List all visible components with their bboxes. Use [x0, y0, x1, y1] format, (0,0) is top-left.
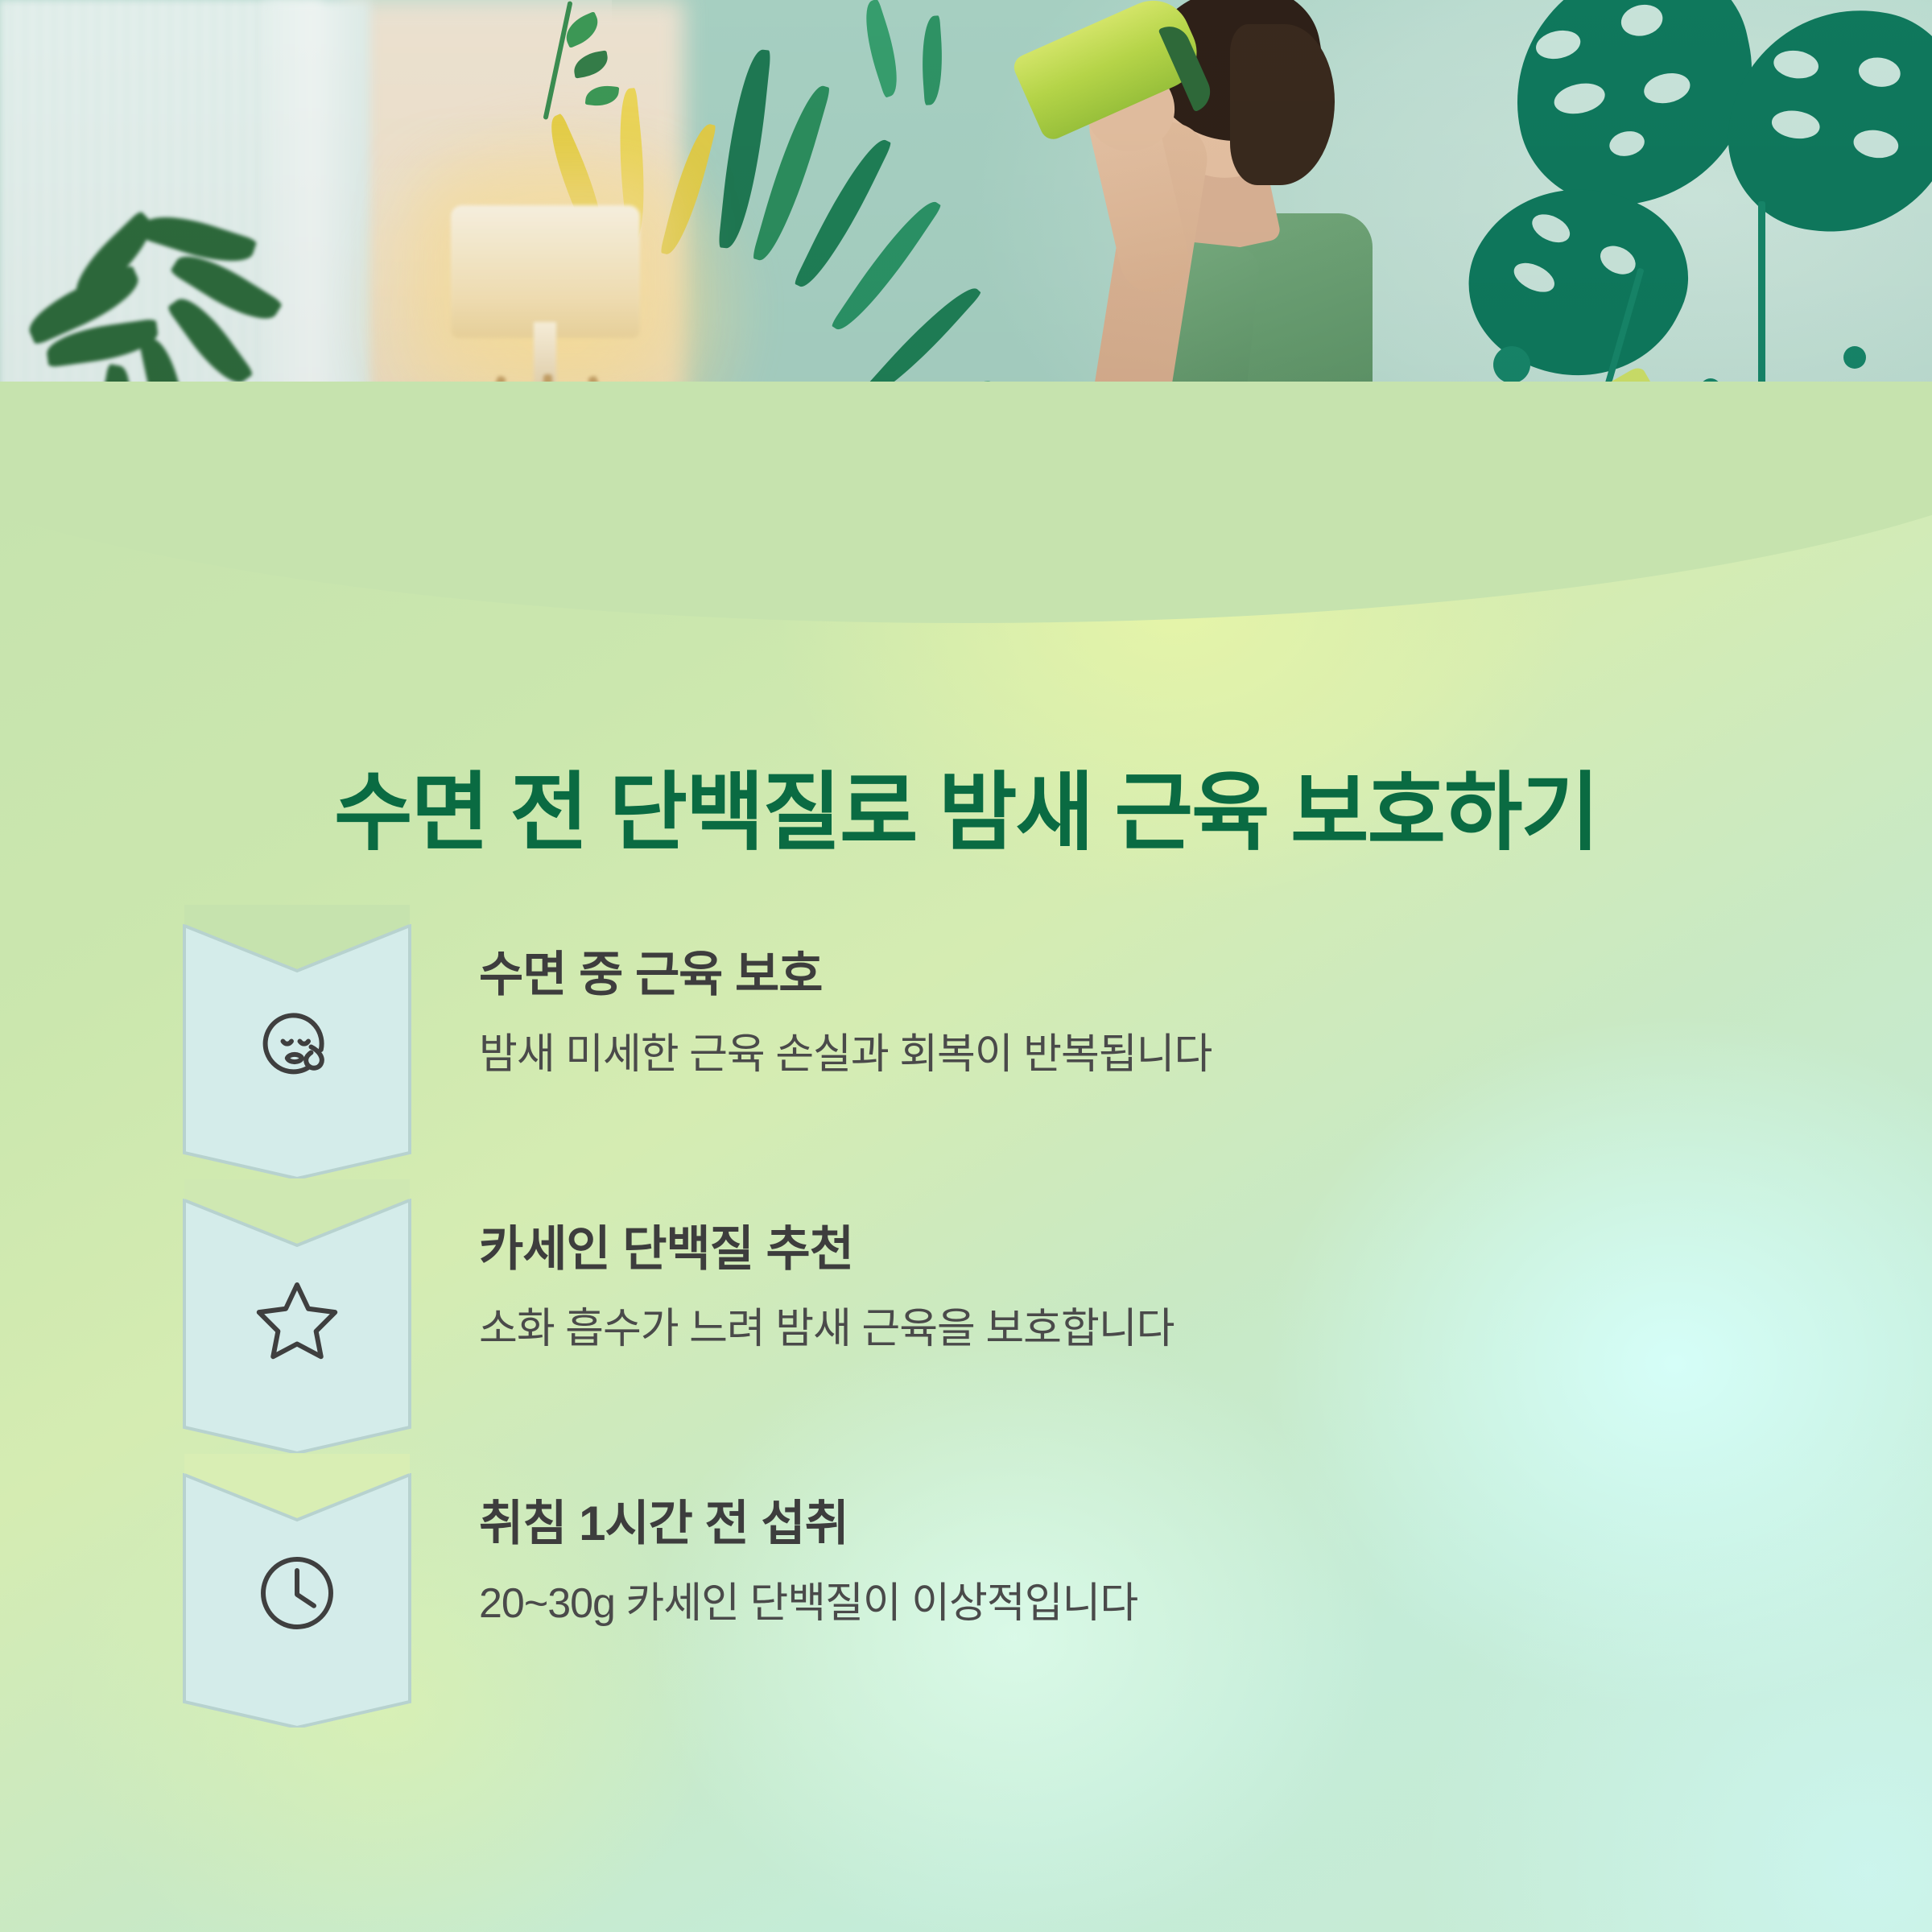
page-title: 수면 전 단백질로 밤새 근육 보호하기 — [0, 766, 1932, 861]
feature-description: 20~30g 카세인 단백질이 이상적입니다 — [479, 1579, 1847, 1629]
feature-text: 수면 중 근육 보호 밤새 미세한 근육 손실과 회복이 반복됩니다 — [479, 947, 1847, 1080]
feature-description: 밤새 미세한 근육 손실과 회복이 반복됩니다 — [479, 1030, 1847, 1080]
list-item: 카세인 단백질 추천 소화 흡수가 느려 밤새 근육을 보호합니다 — [0, 1179, 1932, 1454]
star-icon — [183, 1266, 411, 1371]
feature-badge — [183, 905, 411, 1179]
feature-badge — [183, 1179, 411, 1453]
feature-description: 소화 흡수가 느려 밤새 근육을 보호합니다 — [479, 1304, 1847, 1354]
content-layer: 수면 전 단백질로 밤새 근육 보호하기 — [0, 486, 1932, 1932]
feature-text: 카세인 단백질 추천 소화 흡수가 느려 밤새 근육을 보호합니다 — [479, 1221, 1847, 1354]
promo-card: 수면 전 단백질로 밤새 근육 보호하기 — [0, 0, 1932, 1932]
feature-title: 수면 중 근육 보호 — [479, 947, 1847, 1002]
feature-title: 취침 1시간 전 섭취 — [479, 1496, 1847, 1551]
feature-title: 카세인 단백질 추천 — [479, 1221, 1847, 1277]
list-item: 수면 중 근육 보호 밤새 미세한 근육 손실과 회복이 반복됩니다 — [0, 905, 1932, 1179]
feature-badge — [183, 1454, 411, 1728]
sleeping-face-icon — [183, 992, 411, 1096]
list-item: 취침 1시간 전 섭취 20~30g 카세인 단백질이 이상적입니다 — [0, 1454, 1932, 1728]
feature-list: 수면 중 근육 보호 밤새 미세한 근육 손실과 회복이 반복됩니다 — [0, 905, 1932, 1728]
clock-icon — [183, 1541, 411, 1645]
feature-text: 취침 1시간 전 섭취 20~30g 카세인 단백질이 이상적입니다 — [479, 1496, 1847, 1629]
